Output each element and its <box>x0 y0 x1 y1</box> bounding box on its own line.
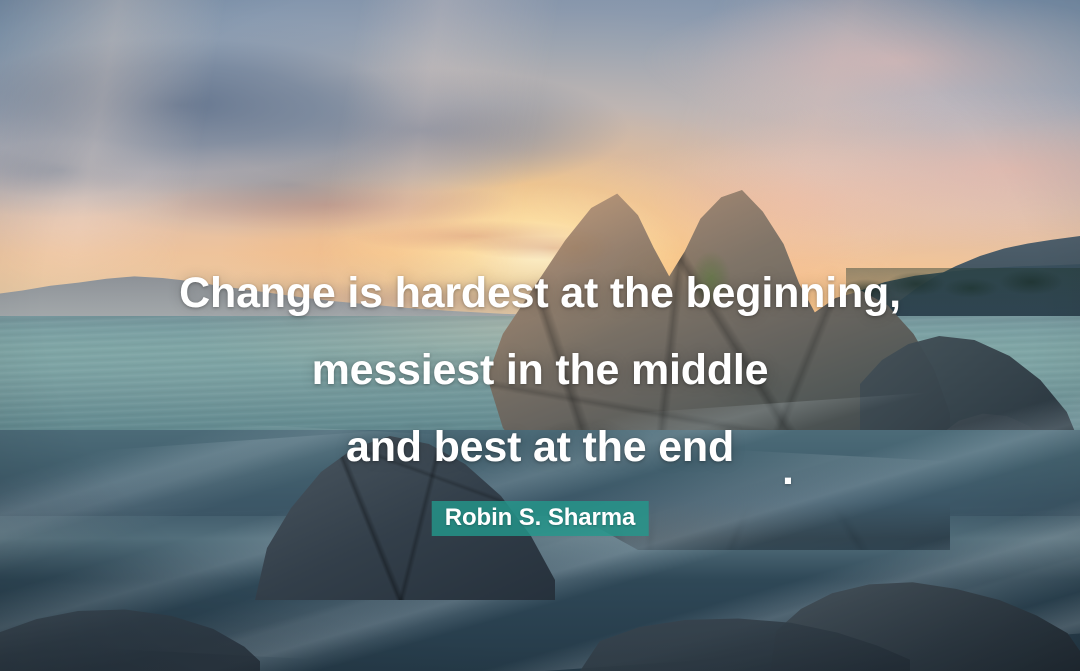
author-name: Robin S. Sharma <box>445 504 636 531</box>
quote-text-overlay: Change is hardest at the beginning, mess… <box>0 0 1080 671</box>
quote-image-card: Change is hardest at the beginning, mess… <box>0 0 1080 671</box>
author-attribution-badge: Robin S. Sharma <box>432 501 649 536</box>
quote-line-3: and best at the end <box>346 426 734 469</box>
quote-line-1: Change is hardest at the beginning, <box>179 272 901 315</box>
quote-line-2: messiest in the middle <box>312 349 769 392</box>
